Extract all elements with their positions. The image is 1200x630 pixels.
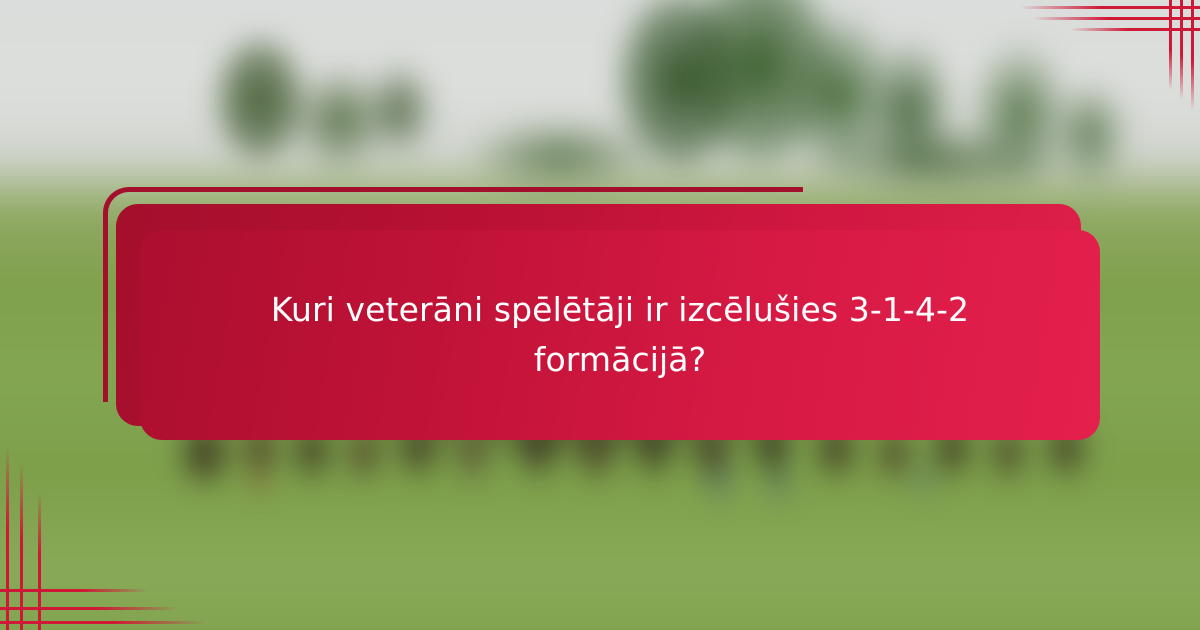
corner-line-horizontal-1 [1020,6,1200,9]
corner-line-horizontal-2 [1032,17,1200,20]
banner-stage: Kuri veterāni spēlētāji ir izcēlušies 3-… [0,0,1200,630]
corner-decoration-bottom-left [0,430,220,630]
corner-line-vertical-2 [1180,0,1183,100]
corner-line-vertical-3 [38,492,41,630]
corner-line-horizontal-1 [0,621,205,624]
corner-line-vertical-1 [6,445,9,630]
corner-line-horizontal-3 [1070,28,1200,31]
card-text-area: Kuri veterāni spēlētāji ir izcēlušies 3-… [140,230,1100,440]
corner-line-vertical-2 [20,462,23,630]
corner-decoration-top-right [1000,0,1200,120]
corner-line-horizontal-2 [0,607,178,610]
corner-line-horizontal-3 [0,589,148,592]
page-title: Kuri veterāni spēlētāji ir izcēlušies 3-… [210,285,1030,385]
headline-card: Kuri veterāni spēlētāji ir izcēlušies 3-… [100,182,1110,450]
corner-line-vertical-3 [1169,0,1172,90]
